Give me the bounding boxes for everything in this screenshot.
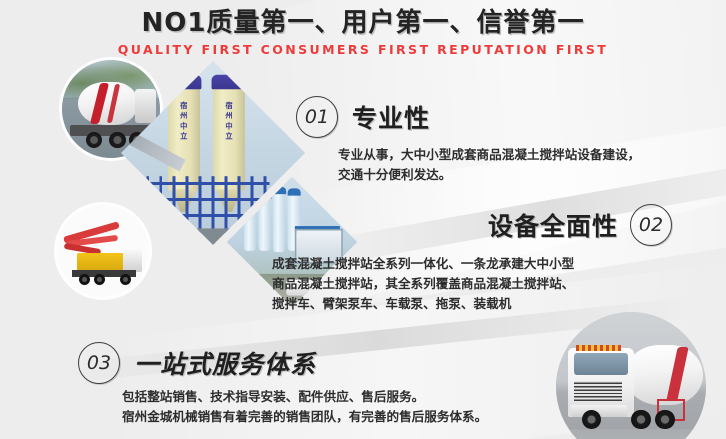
pump-scene — [57, 205, 149, 297]
truck-wheel — [120, 274, 131, 285]
headline: NO1质量第一、用户第一、信誉第一 — [0, 8, 726, 38]
silo-cap — [287, 188, 301, 195]
feature-02-title: 设备全面性 — [488, 207, 618, 243]
feature-03-heading: 03 一站式服务体系 — [78, 342, 487, 384]
truck-wheel — [655, 410, 675, 430]
concrete-mixer-truck-photo — [556, 312, 706, 439]
feature-01-title: 专业性 — [352, 99, 430, 135]
feature-01-heading: 01 专业性 — [296, 96, 640, 138]
promo-poster: NO1质量第一、用户第一、信誉第一 QUALITY FIRST CONSUMER… — [0, 0, 726, 439]
pump-body — [77, 253, 125, 271]
subheadline: QUALITY FIRST CONSUMERS FIRST REPUTATION… — [0, 42, 726, 57]
feature-03-number: 03 — [78, 342, 120, 384]
truck-cab — [123, 249, 141, 272]
silo-label: 宿州中立 — [168, 102, 200, 143]
roof-light-bar — [576, 345, 621, 351]
silo-cap — [166, 75, 202, 90]
silo-cap — [211, 75, 247, 90]
feature-03-body-line: 包括整站销售、技术指导安装、配件供应、售后服务。 — [122, 387, 487, 407]
windshield — [574, 353, 628, 376]
feature-03-body: 包括整站销售、技术指导安装、配件供应、售后服务。 宿州金城机械销售有着完善的销售… — [122, 387, 487, 427]
feature-02-heading: 设备全面性 02 — [272, 204, 672, 246]
front-grille — [574, 381, 622, 401]
boom-pump-truck-photo — [57, 205, 149, 297]
feature-block-03: 03 一站式服务体系 包括整站销售、技术指导安装、配件供应、售后服务。 宿州金城… — [78, 342, 487, 427]
truck-wheel — [109, 132, 126, 149]
mixer-drum — [625, 345, 703, 405]
silo-cap — [272, 186, 286, 193]
feature-01-body: 专业从事，大中小型成套商品混凝土搅拌站设备建设， 交通十分便利发达。 — [338, 145, 640, 185]
feature-03-title: 一站式服务体系 — [134, 345, 316, 381]
silo-label: 宿州中立 — [213, 102, 245, 143]
truck-wheel — [631, 410, 651, 430]
truck-cab — [135, 89, 157, 122]
feature-02-body: 成套混凝土搅拌站全系列一体化、一条龙承建大中小型 商品混凝土搅拌站，其全系列覆盖… — [272, 254, 672, 314]
feature-01-body-line: 专业从事，大中小型成套商品混凝土搅拌站设备建设， — [338, 145, 640, 165]
feature-02-body-line: 商品混凝土搅拌站，其全系列覆盖商品混凝土搅拌站、 — [272, 274, 672, 294]
feature-03-body-line: 宿州金城机械销售有着完善的销售团队，有完善的售后服务体系。 — [122, 407, 487, 427]
feature-block-01: 01 专业性 专业从事，大中小型成套商品混凝土搅拌站设备建设， 交通十分便利发达… — [296, 96, 640, 185]
poster-header: NO1质量第一、用户第一、信誉第一 QUALITY FIRST CONSUMER… — [0, 8, 726, 57]
plant-silo — [259, 197, 271, 250]
truck-scene — [556, 312, 706, 439]
truck-wheel — [582, 410, 602, 430]
truck-wheel — [86, 132, 103, 149]
truck-wheel — [79, 274, 90, 285]
feature-02-body-line: 搅拌车、臂架泵车、车载泵、拖泵、装载机 — [272, 294, 672, 314]
ground — [556, 429, 706, 439]
feature-02-body-line: 成套混凝土搅拌站全系列一体化、一条龙承建大中小型 — [272, 254, 672, 274]
feature-block-02: 设备全面性 02 成套混凝土搅拌站全系列一体化、一条龙承建大中小型 商品混凝土搅… — [272, 204, 672, 314]
feature-01-body-line: 交通十分便利发达。 — [338, 165, 640, 185]
feature-02-number: 02 — [630, 204, 672, 246]
truck-wheel — [94, 274, 105, 285]
feature-01-number: 01 — [296, 96, 338, 138]
